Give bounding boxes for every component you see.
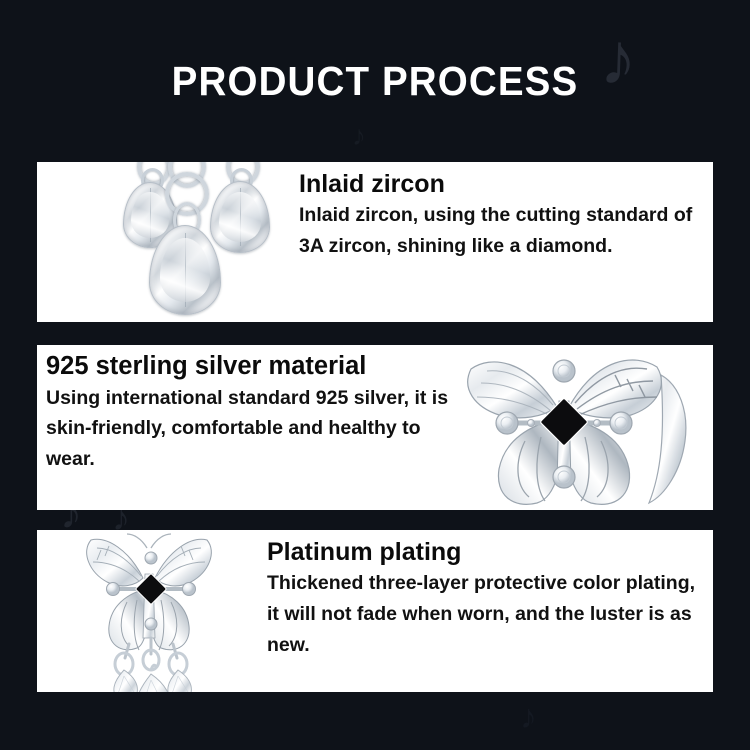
music-note-icon: ♪ <box>520 700 537 734</box>
feature-text-inlaid-zircon: Inlaid zircon Inlaid zircon, using the c… <box>291 162 713 322</box>
butterfly-charm-illustration <box>465 345 713 510</box>
feature-text-platinum-plating: Platinum plating Thickened three-layer p… <box>259 530 713 692</box>
feature-body: Inlaid zircon, using the cutting standar… <box>299 200 703 262</box>
pear-zircon-gem <box>136 674 170 692</box>
feature-heading: 925 sterling silver material <box>46 352 461 381</box>
feature-text-sterling-silver: 925 sterling silver material Using inter… <box>37 345 465 510</box>
feature-panel-platinum-plating: Platinum plating Thickened three-layer p… <box>37 530 713 692</box>
music-note-icon: ♪ <box>352 122 366 150</box>
product-image-butterfly-closeup <box>465 345 713 510</box>
pear-zircon-gem <box>210 181 270 253</box>
feature-heading: Inlaid zircon <box>299 170 703 198</box>
feature-body: Using international standard 925 silver,… <box>46 383 461 475</box>
product-image-butterfly-pendant <box>37 530 259 692</box>
feature-panel-sterling-silver: 925 sterling silver material Using inter… <box>37 345 713 510</box>
feature-panel-inlaid-zircon: Inlaid zircon Inlaid zircon, using the c… <box>37 162 713 322</box>
feature-heading: Platinum plating <box>267 538 703 566</box>
feature-body: Thickened three-layer protective color p… <box>267 568 703 660</box>
product-image-zircon-cluster <box>37 162 291 322</box>
page-title: PRODUCT PROCESS <box>23 58 728 105</box>
butterfly-pendant-illustration <box>37 530 259 692</box>
